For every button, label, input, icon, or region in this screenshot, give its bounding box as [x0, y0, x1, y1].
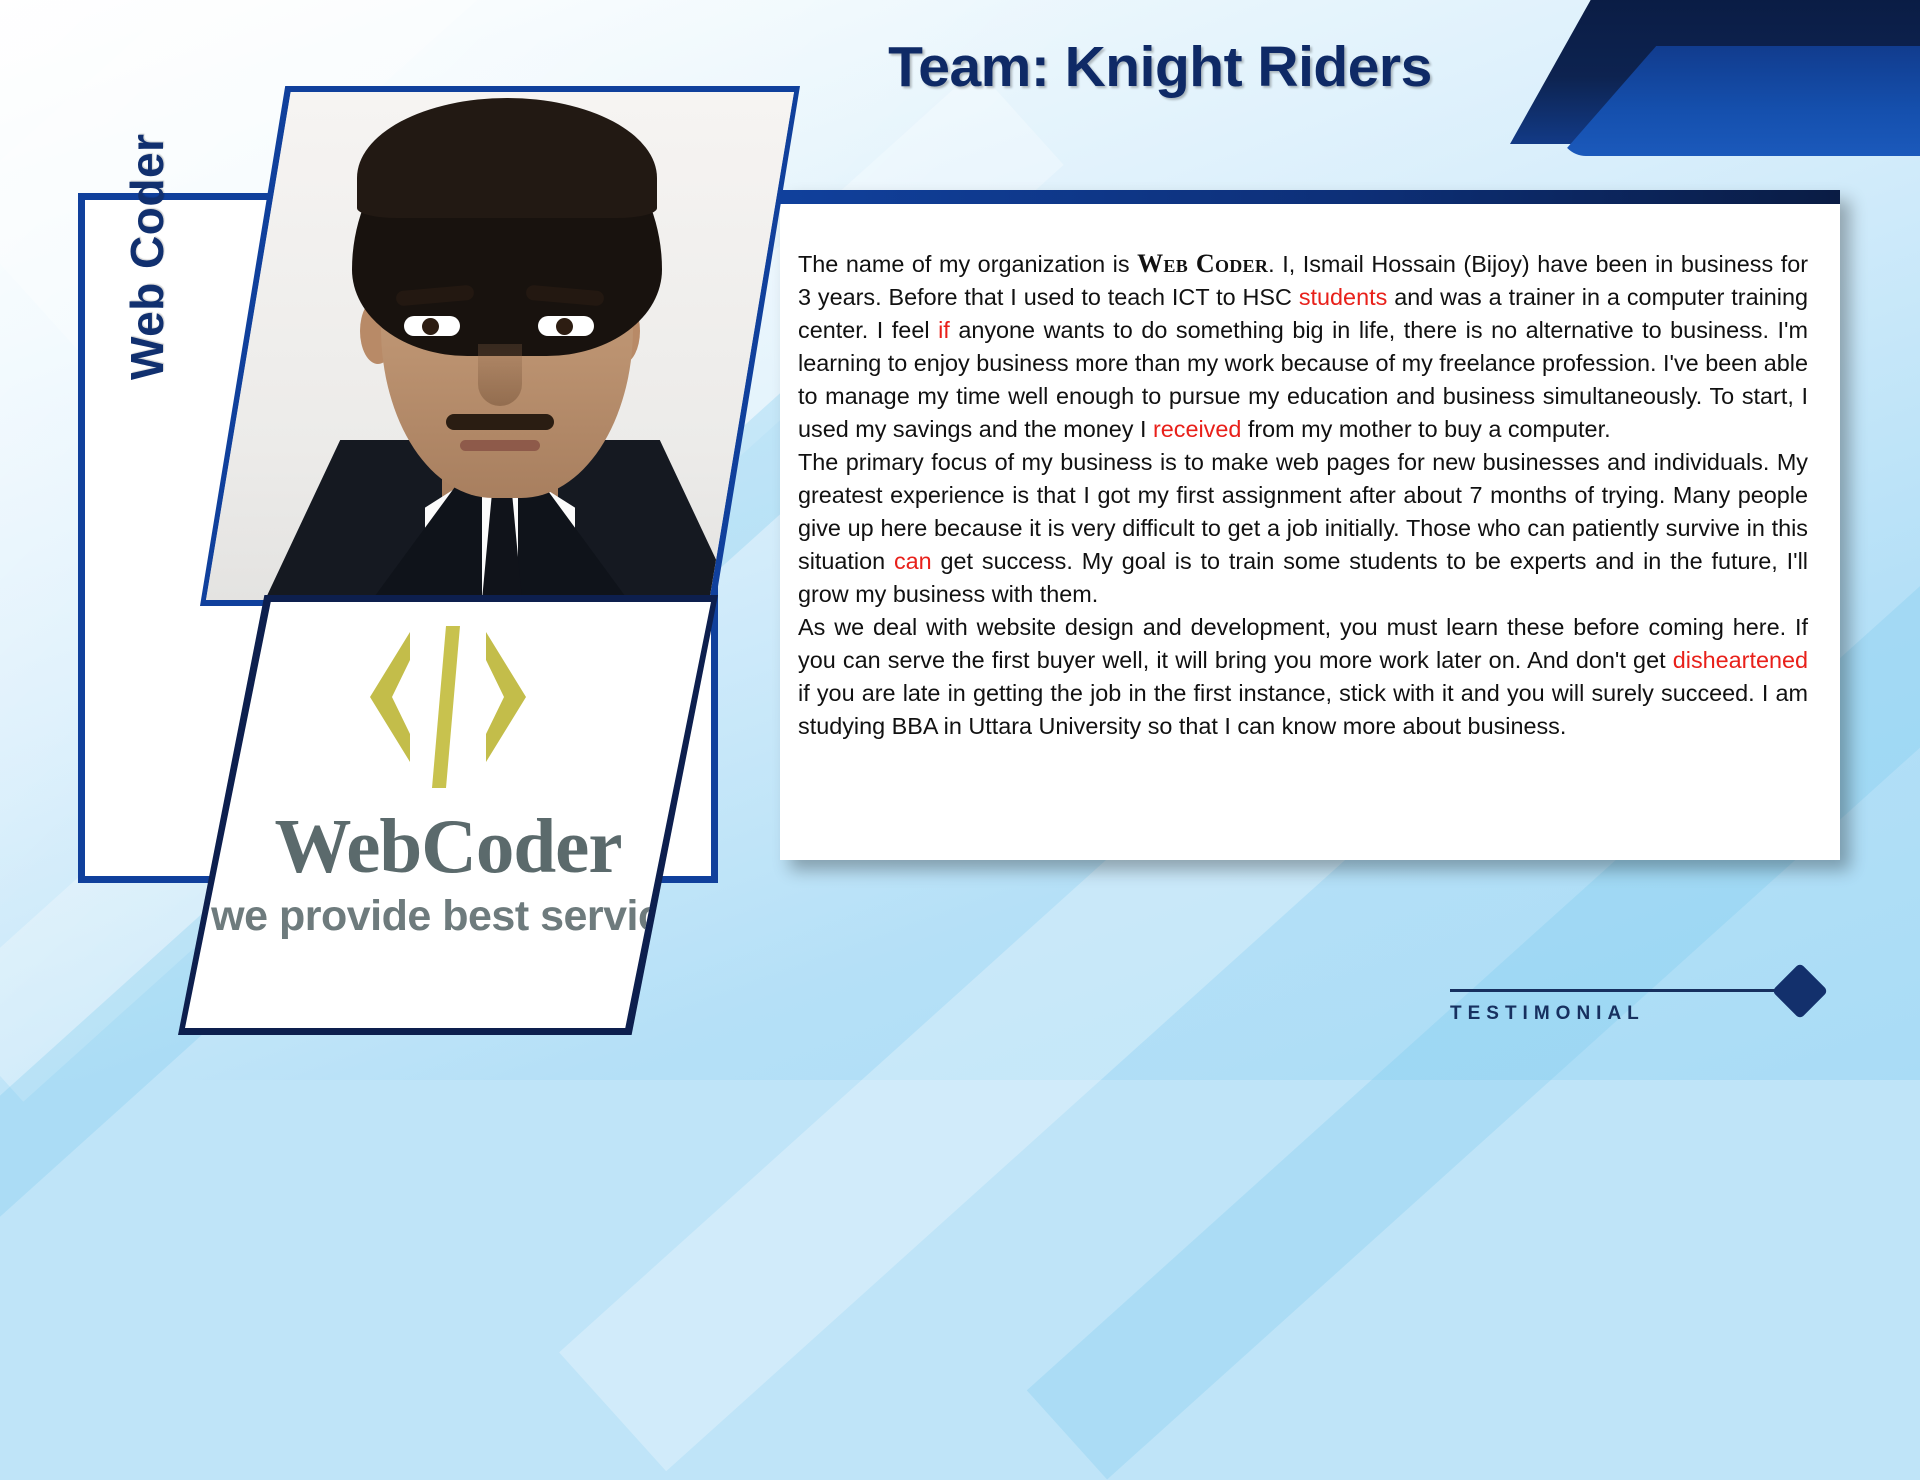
- testimonial-paragraph: The primary focus of my business is to m…: [798, 446, 1808, 611]
- brand-name: Web Coder: [1137, 249, 1268, 278]
- page-title: Team: Knight Riders: [720, 34, 1600, 100]
- footer-testimonial-mark: TESTIMONIAL: [1440, 975, 1840, 1045]
- testimonial-card-topbar: [780, 190, 1840, 204]
- logo-card-inner: WebCoder we provide best service: [185, 602, 711, 1028]
- footer-label: TESTIMONIAL: [1450, 1003, 1645, 1025]
- logo-name: WebCoder: [185, 802, 711, 891]
- portrait-photo: [200, 86, 800, 606]
- logo-card: WebCoder we provide best service: [178, 595, 718, 1035]
- testimonial-text: The name of my organization is Web Coder…: [798, 247, 1808, 743]
- testimonial-run: The name of my organization is: [798, 251, 1137, 277]
- vertical-brand-label: Web Coder: [120, 134, 174, 380]
- highlighted-word: if: [938, 317, 950, 343]
- testimonial-run: from my mother to buy a computer.: [1241, 416, 1610, 442]
- testimonial-paragraph: The name of my organization is Web Coder…: [798, 247, 1808, 446]
- highlighted-word: disheartened: [1673, 647, 1808, 673]
- testimonial-run: As we deal with website design and devel…: [798, 614, 1808, 673]
- highlighted-word: students: [1299, 284, 1387, 310]
- code-brackets-icon: [348, 622, 548, 802]
- portrait-photo-image: [206, 92, 794, 600]
- testimonial-run: if you are late in getting the job in th…: [798, 680, 1808, 739]
- testimonial-run: get success. My goal is to train some st…: [798, 548, 1808, 607]
- highlighted-word: can: [894, 548, 932, 574]
- logo-tagline: we provide best service: [185, 892, 711, 941]
- footer-line: [1450, 989, 1790, 992]
- highlighted-word: received: [1153, 416, 1241, 442]
- testimonial-paragraph: As we deal with website design and devel…: [798, 611, 1808, 743]
